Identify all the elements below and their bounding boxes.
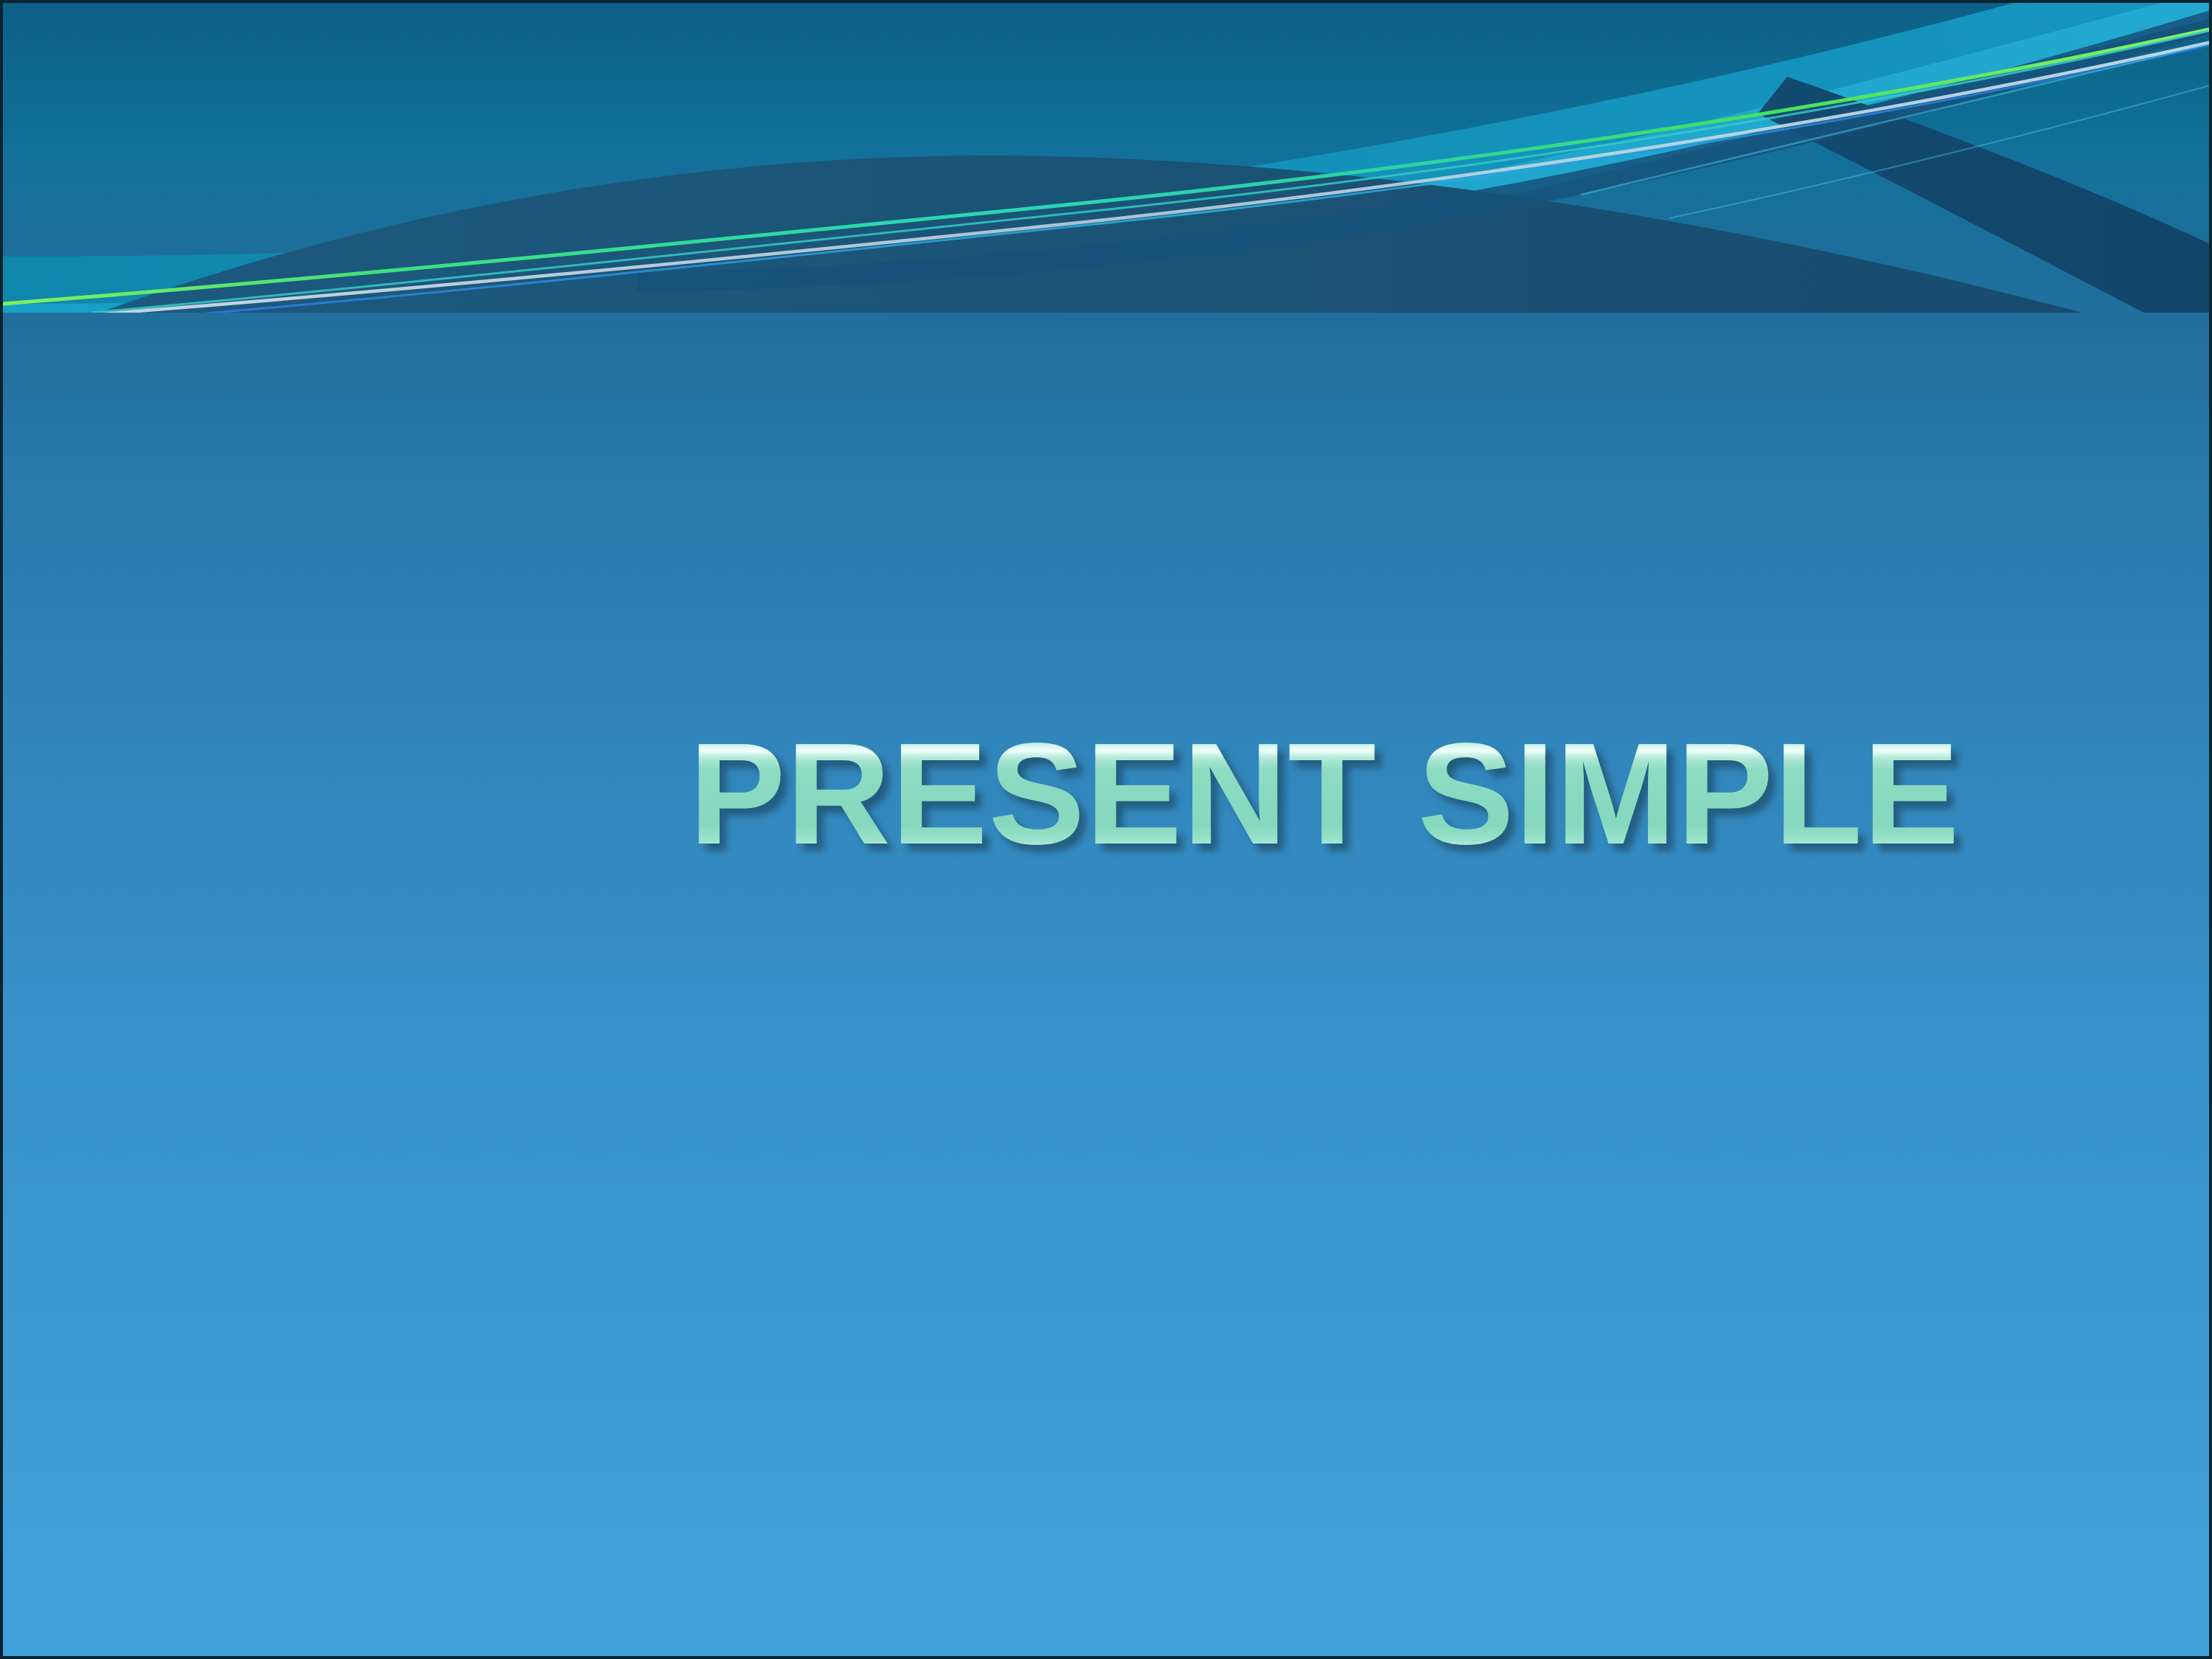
highlight-stroke-cyan-upper (1581, 43, 2212, 195)
wave-band-dark (3, 156, 2212, 313)
highlight-stroke-white (3, 41, 2212, 313)
presentation-slide: PRESENT SIMPLE PRESENT SIMPLE (0, 0, 2212, 1659)
highlight-stroke-blue (180, 44, 2212, 313)
page-title: PRESENT SIMPLE (689, 722, 1961, 866)
flow-wave-graphic (3, 3, 2212, 313)
wave-band-light (3, 3, 2212, 313)
highlight-stroke-green (3, 28, 2212, 304)
title-placeholder: PRESENT SIMPLE PRESENT SIMPLE (3, 722, 2212, 866)
highlight-stroke-cyan (91, 29, 2212, 313)
wave-band-mid (3, 3, 2212, 304)
highlight-stroke-cyan-upper-2 (1669, 84, 2212, 218)
wave-band-deep (1758, 77, 2212, 313)
wave-band-dark-sliver (637, 9, 2212, 292)
